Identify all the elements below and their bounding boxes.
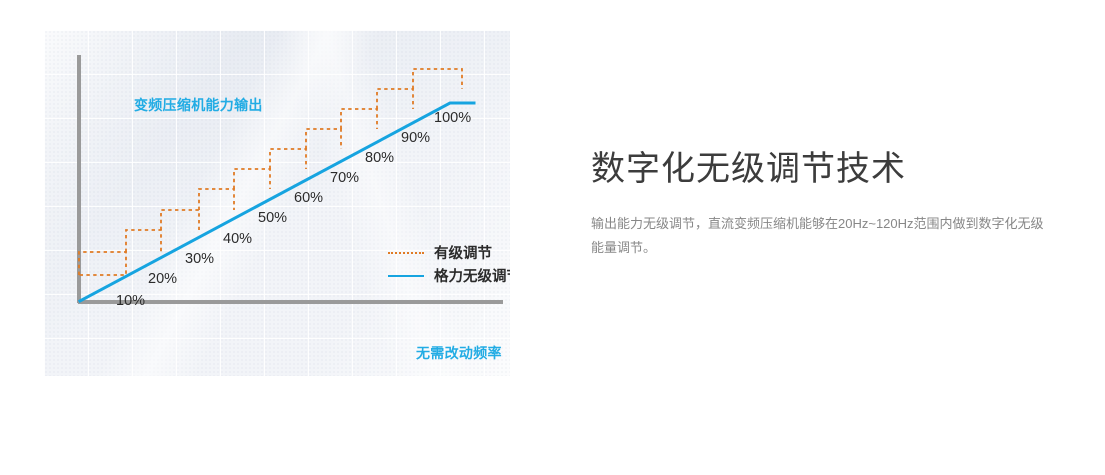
step-label-60: 60% [294, 190, 323, 206]
step-label-80: 80% [365, 150, 394, 166]
dashed-line-swatch-icon [388, 247, 424, 259]
chart-legend: 有级调节 格力无级调节 [388, 241, 510, 287]
step-label-40: 40% [223, 231, 252, 247]
step-label-70: 70% [330, 170, 359, 186]
solid-line-swatch-icon [388, 270, 424, 282]
step-label-100: 100% [434, 110, 471, 126]
step-label-10: 10% [116, 293, 145, 309]
legend-item-stepped: 有级调节 [388, 241, 510, 264]
legend-label-stepless: 格力无级调节 [434, 265, 510, 286]
legend-item-stepless: 格力无级调节 [388, 264, 510, 287]
feature-copy-block: 数字化无级调节技术 输出能力无级调节，直流变频压缩机能够在20Hz~120Hz范… [591, 149, 1051, 260]
step-chart-graphic [44, 30, 510, 376]
feature-description: 输出能力无级调节，直流变频压缩机能够在20Hz~120Hz范围内做到数字化无级能… [591, 212, 1046, 260]
feature-title: 数字化无级调节技术 [591, 149, 1051, 190]
x-axis-title: 无需改动频率 [416, 343, 502, 363]
step-label-90: 90% [401, 130, 430, 146]
chart-illustration-panel: 变频压缩机能力输出 无需改动频率 10% 20% 30% 40% 50% 60%… [44, 30, 510, 376]
page-root: 变频压缩机能力输出 无需改动频率 10% 20% 30% 40% 50% 60%… [0, 0, 1105, 475]
step-label-50: 50% [258, 210, 287, 226]
step-label-20: 20% [148, 271, 177, 287]
step-label-30: 30% [185, 251, 214, 267]
legend-label-stepped: 有级调节 [434, 242, 492, 263]
y-axis-title: 变频压缩机能力输出 [134, 95, 263, 115]
